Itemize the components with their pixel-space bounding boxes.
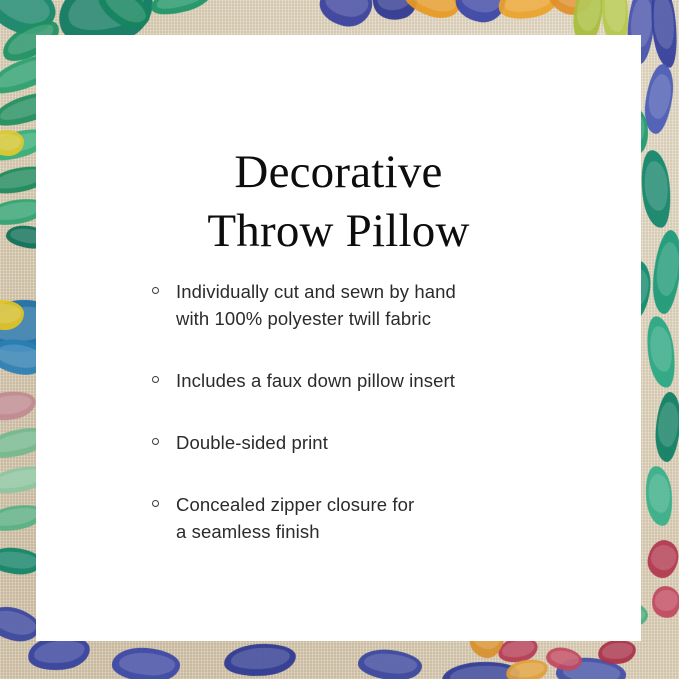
stroke-green-right-3 [643, 315, 679, 390]
product-title-line-1: Decorative [36, 143, 641, 202]
stroke-indigo-bottom-2 [111, 646, 181, 679]
stroke-indigo-top-1 [316, 0, 376, 31]
stroke-teal-right-1 [638, 149, 674, 229]
hollow-circle-icon [152, 500, 159, 507]
stroke-crimson-right-1 [645, 538, 679, 581]
stroke-teal-right-2 [650, 229, 679, 315]
feature-text: Includes a faux down pillow insert [176, 367, 605, 394]
stroke-teal-right-4 [654, 391, 679, 463]
stroke-crimson-bottom-3 [597, 638, 637, 666]
product-title: Decorative Throw Pillow [36, 143, 641, 261]
feature-list: Individually cut and sewn by hand with 1… [152, 278, 605, 545]
stroke-indigo-right-2 [648, 0, 679, 69]
list-item: Concealed zipper closure for a seamless … [152, 491, 605, 545]
list-item: Individually cut and sewn by hand with 1… [152, 278, 605, 332]
hollow-circle-icon [152, 438, 159, 445]
stroke-green-top-3 [148, 0, 217, 20]
product-feature-card-screenshot: Decorative Throw Pillow Individually cut… [0, 0, 679, 679]
stroke-green-right-5 [643, 465, 675, 527]
stroke-crimson-right-2 [650, 584, 679, 620]
product-title-line-2: Throw Pillow [36, 202, 641, 261]
stroke-indigo-bottom-4 [357, 647, 424, 679]
hollow-circle-icon [152, 287, 159, 294]
stroke-rose-left [0, 388, 38, 424]
hollow-circle-icon [152, 376, 159, 383]
list-item: Double-sided print [152, 429, 605, 456]
stroke-indigo-bottom-3 [223, 642, 297, 679]
list-item: Includes a faux down pillow insert [152, 367, 605, 394]
feature-text: Individually cut and sewn by hand with 1… [176, 278, 605, 332]
feature-text: Concealed zipper closure for a seamless … [176, 491, 605, 545]
white-content-card: Decorative Throw Pillow Individually cut… [36, 35, 641, 641]
feature-text: Double-sided print [176, 429, 605, 456]
